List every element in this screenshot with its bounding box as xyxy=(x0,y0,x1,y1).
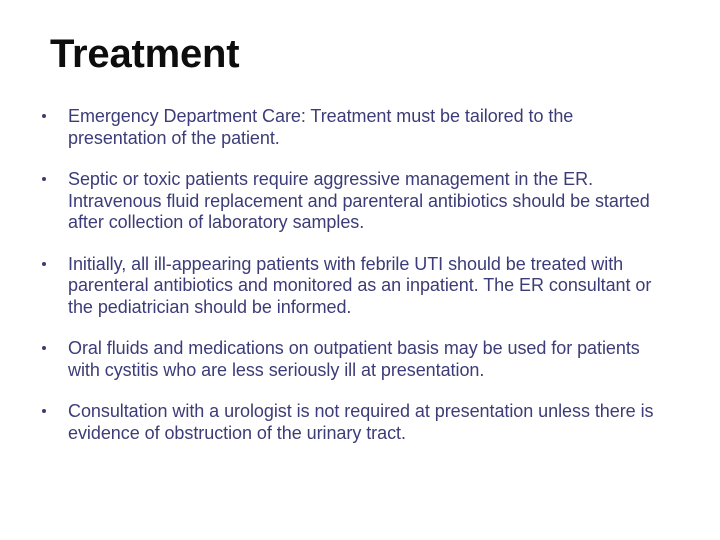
list-item-text: Oral fluids and medications on outpatien… xyxy=(68,338,668,381)
round-dot-bullet-icon xyxy=(42,177,46,181)
list-item-text: Consultation with a urologist is not req… xyxy=(68,401,668,444)
round-dot-bullet-icon xyxy=(42,409,46,413)
list-item-text: Emergency Department Care: Treatment mus… xyxy=(68,106,668,149)
round-dot-bullet-icon xyxy=(42,114,46,118)
list-item-text: Initially, all ill-appearing patients wi… xyxy=(68,254,668,319)
presentation-slide: Treatment Emergency Department Care: Tre… xyxy=(0,0,720,540)
list-item-text: Septic or toxic patients require aggress… xyxy=(68,169,668,234)
page-title: Treatment xyxy=(50,31,239,77)
list-item: Oral fluids and medications on outpatien… xyxy=(40,338,680,381)
slide-bullet-list: Emergency Department Care: Treatment mus… xyxy=(40,106,680,444)
list-item: Consultation with a urologist is not req… xyxy=(40,401,680,444)
list-item: Septic or toxic patients require aggress… xyxy=(40,169,680,234)
round-dot-bullet-icon xyxy=(42,262,46,266)
list-item: Initially, all ill-appearing patients wi… xyxy=(40,254,680,319)
round-dot-bullet-icon xyxy=(42,346,46,350)
list-item: Emergency Department Care: Treatment mus… xyxy=(40,106,680,149)
